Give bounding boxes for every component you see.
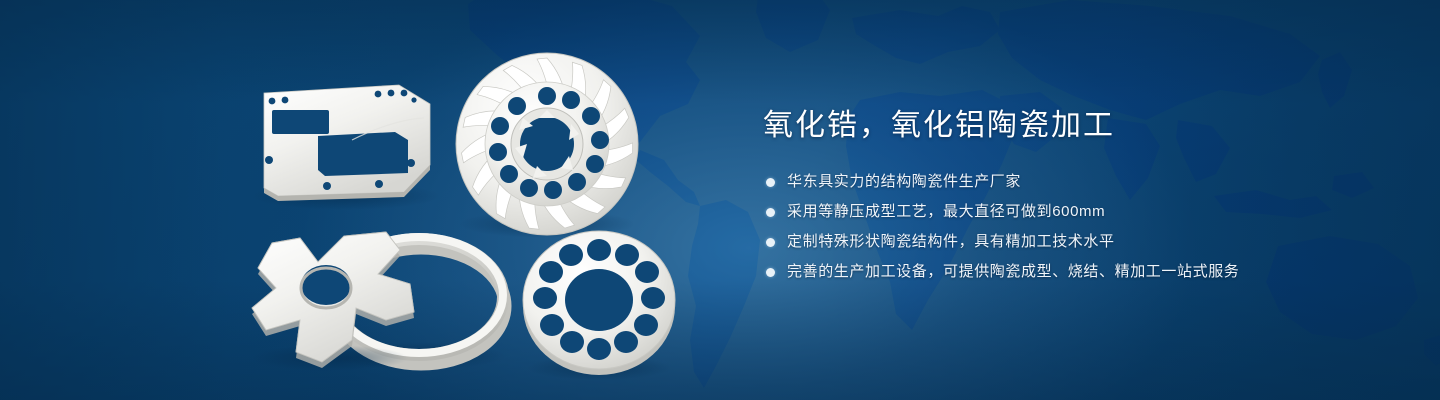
ceramic-cross-plate	[252, 232, 414, 371]
list-item: 采用等静压成型工艺，最大直径可做到600mm	[766, 200, 1383, 224]
bullet-icon	[766, 178, 775, 187]
feature-label: 完善的生产加工设备，可提供陶瓷成型、烧结、精加工一站式服务	[787, 260, 1239, 284]
product-photo-group	[0, 0, 740, 400]
feature-label: 定制特殊形状陶瓷结构件，具有精加工技术水平	[787, 230, 1115, 254]
bullet-icon	[766, 238, 775, 247]
feature-label: 华东具实力的结构陶瓷件生产厂家	[787, 170, 1021, 194]
bullet-icon	[766, 268, 775, 277]
page-title: 氧化锆，氧化铝陶瓷加工	[763, 104, 1383, 148]
list-item: 完善的生产加工设备，可提供陶瓷成型、烧结、精加工一站式服务	[766, 260, 1383, 284]
ceramic-machined-plate	[250, 85, 440, 210]
list-item: 华东具实力的结构陶瓷件生产厂家	[766, 170, 1383, 194]
banner-copy: 氧化锆，氧化铝陶瓷加工 华东具实力的结构陶瓷件生产厂家 采用等静压成型工艺，最大…	[763, 104, 1383, 290]
feature-list: 华东具实力的结构陶瓷件生产厂家 采用等静压成型工艺，最大直径可做到600mm 定…	[766, 170, 1383, 284]
ceramic-perforated-disc	[523, 231, 675, 380]
bullet-icon	[766, 208, 775, 217]
hero-banner: 氧化锆，氧化铝陶瓷加工 华东具实力的结构陶瓷件生产厂家 采用等静压成型工艺，最大…	[0, 0, 1440, 400]
list-item: 定制特殊形状陶瓷结构件，具有精加工技术水平	[766, 230, 1383, 254]
feature-label: 采用等静压成型工艺，最大直径可做到600mm	[787, 200, 1105, 224]
ceramic-impeller-disc	[456, 53, 638, 238]
